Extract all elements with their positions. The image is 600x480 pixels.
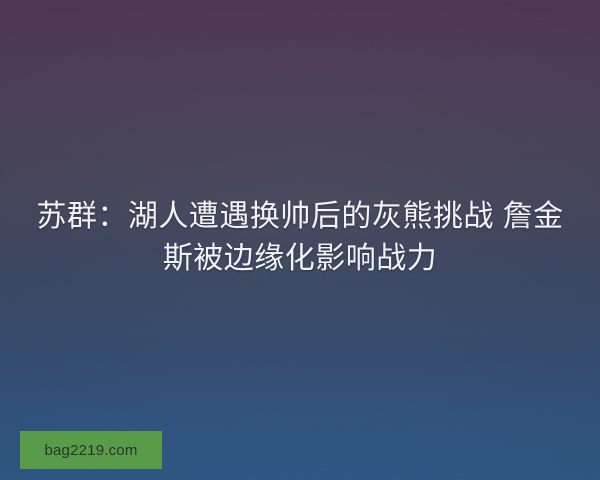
image-canvas: 苏群：湖人遭遇换帅后的灰熊挑战 詹金斯被边缘化影响战力 bag2219.com [0, 0, 600, 480]
watermark-label: bag2219.com [44, 443, 137, 458]
watermark-badge: bag2219.com [20, 431, 162, 469]
page-title: 苏群：湖人遭遇换帅后的灰熊挑战 詹金斯被边缘化影响战力 [36, 196, 564, 280]
headline-block: 苏群：湖人遭遇换帅后的灰熊挑战 詹金斯被边缘化影响战力 [36, 196, 564, 280]
